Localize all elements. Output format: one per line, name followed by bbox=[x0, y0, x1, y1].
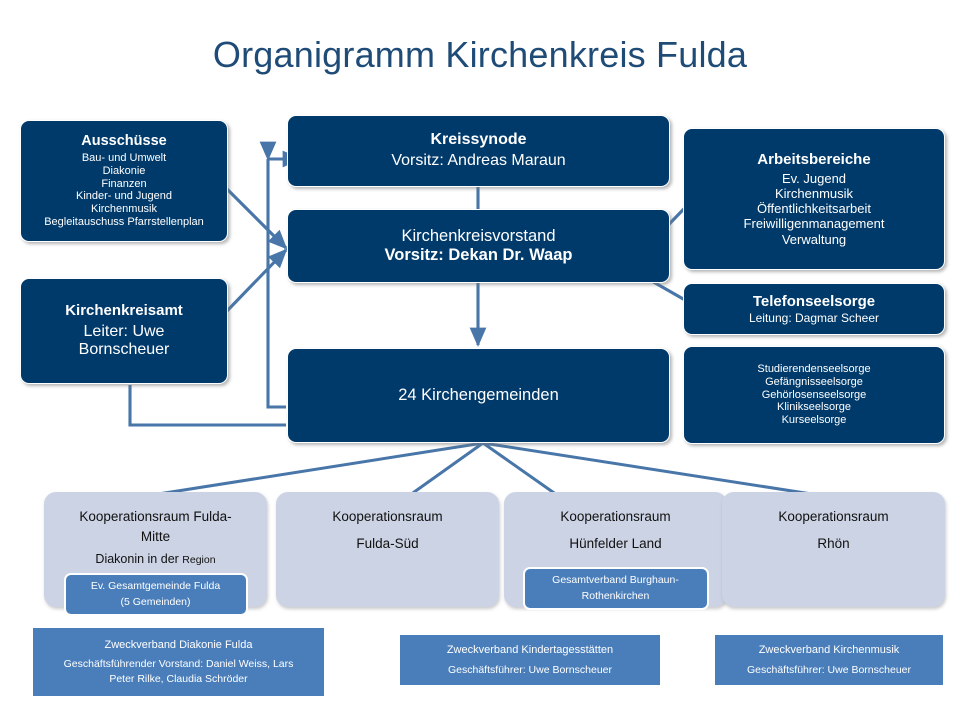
zweckverband-subtitle-line1: Geschäftsführer: Uwe Bornscheuer bbox=[747, 663, 911, 678]
koop-title-line1: Kooperationsraum bbox=[778, 507, 888, 527]
koop-chip-line1: Ev. Gesamtgemeinde Fulda bbox=[72, 578, 240, 594]
arbeitsbereiche-item: Verwaltung bbox=[782, 232, 846, 247]
page-title: Organigramm Kirchenkreis Fulda bbox=[0, 34, 960, 76]
telefonseelsorge-heading: Telefonseelsorge bbox=[753, 293, 875, 311]
box-ausschuesse[interactable]: Ausschüsse Bau- und Umwelt Diakonie Fina… bbox=[20, 120, 228, 242]
wire-fan-koop-4 bbox=[483, 443, 818, 495]
wire-fan-koop-1 bbox=[152, 443, 483, 495]
wire-elbow-gemeinden-to-synode bbox=[268, 159, 286, 407]
koop-title-line2: Fulda-Süd bbox=[356, 534, 418, 554]
zweckverband-title: Zweckverband Kindertagesstätten bbox=[447, 642, 613, 659]
koop-chip[interactable]: Gesamtverband Burghaun- Rothenkirchen bbox=[523, 567, 709, 610]
koop-chip-line1: Gesamtverband Burghaun- bbox=[531, 572, 701, 588]
wire-elbow-amt-to-gemeinden bbox=[130, 385, 286, 425]
wire-ausschuesse-to-vorstand bbox=[226, 188, 286, 248]
kirchenkreisamt-line2: Bornscheuer bbox=[79, 341, 170, 360]
kreissynode-heading: Kreissynode bbox=[430, 131, 526, 150]
koop-chip-line2: Rothenkirchen bbox=[531, 588, 701, 604]
box-kooperationsraum[interactable]: Kooperationsraum Fulda- Mitte Diakonin i… bbox=[44, 492, 267, 607]
box-kirchengemeinden[interactable]: 24 Kirchengemeinden bbox=[287, 348, 670, 443]
koop-title-line1: Kooperationsraum Fulda- bbox=[79, 507, 231, 527]
kirchenkreisamt-heading: Kirchenkreisamt bbox=[65, 302, 183, 320]
ausschuesse-item: Kirchenmusik bbox=[91, 203, 157, 216]
ausschuesse-item: Bau- und Umwelt bbox=[82, 152, 166, 165]
telefonseelsorge-subtitle: Leitung: Dagmar Scheer bbox=[749, 311, 879, 325]
box-kooperationsraum[interactable]: Kooperationsraum Fulda-Süd bbox=[276, 492, 499, 607]
zweckverband-subtitle-line1: Geschäftsführender Vorstand: Daniel Weis… bbox=[64, 657, 294, 672]
box-kreissynode[interactable]: Kreissynode Vorsitz: Andreas Maraun bbox=[287, 115, 670, 187]
kirchenkreisvorstand-line2: Vorsitz: Dekan Dr. Waap bbox=[385, 246, 573, 265]
koop-title-line2: Hünfelder Land bbox=[569, 534, 661, 554]
ausschuesse-item: Kinder- und Jugend bbox=[76, 190, 172, 203]
wire-kirchenkreisamt-to-vorstand bbox=[226, 250, 286, 312]
seelsorge-item: Kurseelsorge bbox=[782, 414, 847, 427]
ausschuesse-item: Begleitauschuss Pfarrstellenplan bbox=[44, 216, 204, 229]
koop-subtitle: Diakonin in der Region bbox=[95, 552, 215, 566]
seelsorge-item: Gehörlosenseelsorge bbox=[762, 389, 867, 402]
arbeitsbereiche-item: Kirchenmusik bbox=[775, 186, 853, 201]
wire-fan-koop-2 bbox=[410, 443, 483, 495]
kirchengemeinden-label: 24 Kirchengemeinden bbox=[398, 386, 559, 405]
box-kirchenkreisamt[interactable]: Kirchenkreisamt Leiter: Uwe Bornscheuer bbox=[20, 278, 228, 384]
koop-chip-line2: (5 Gemeinden) bbox=[72, 594, 240, 610]
box-seelsorge-liste[interactable]: Studierendenseelsorge Gefängnisseelsorge… bbox=[683, 346, 945, 444]
seelsorge-item: Studierendenseelsorge bbox=[757, 363, 870, 376]
seelsorge-item: Gefängnisseelsorge bbox=[765, 376, 863, 389]
kreissynode-subtitle: Vorsitz: Andreas Maraun bbox=[391, 152, 565, 171]
box-zweckverband[interactable]: Zweckverband Kirchenmusik Geschäftsführe… bbox=[715, 635, 943, 685]
kirchenkreisamt-line1: Leiter: Uwe bbox=[84, 323, 165, 342]
ausschuesse-item: Finanzen bbox=[101, 178, 146, 191]
box-zweckverband[interactable]: Zweckverband Kindertagesstätten Geschäft… bbox=[400, 635, 660, 685]
box-arbeitsbereiche[interactable]: Arbeitsbereiche Ev. Jugend Kirchenmusik … bbox=[683, 128, 945, 270]
koop-subtitle-main: Diakonin in der bbox=[95, 552, 182, 566]
koop-title-line2: Rhön bbox=[817, 534, 849, 554]
koop-subtitle-small: Region bbox=[182, 554, 215, 566]
koop-title-line1: Kooperationsraum bbox=[560, 507, 670, 527]
koop-chip[interactable]: Ev. Gesamtgemeinde Fulda (5 Gemeinden) bbox=[64, 573, 248, 616]
wire-fan-koop-3 bbox=[483, 443, 557, 495]
koop-title-line2: Mitte bbox=[141, 527, 170, 547]
box-kirchenkreisvorstand[interactable]: Kirchenkreisvorstand Vorsitz: Dekan Dr. … bbox=[287, 209, 670, 283]
box-zweckverband[interactable]: Zweckverband Diakonie Fulda Geschäftsfüh… bbox=[33, 628, 324, 696]
ausschuesse-heading: Ausschüsse bbox=[81, 133, 166, 150]
ausschuesse-item: Diakonie bbox=[103, 165, 146, 178]
box-kooperationsraum[interactable]: Kooperationsraum Rhön bbox=[722, 492, 945, 607]
kirchenkreisvorstand-line1: Kirchenkreisvorstand bbox=[401, 227, 555, 246]
arbeitsbereiche-heading: Arbeitsbereiche bbox=[757, 151, 870, 169]
seelsorge-item: Klinikseelsorge bbox=[777, 401, 851, 414]
box-telefonseelsorge[interactable]: Telefonseelsorge Leitung: Dagmar Scheer bbox=[683, 283, 945, 335]
arbeitsbereiche-item: Ev. Jugend bbox=[782, 171, 846, 186]
koop-title-line1: Kooperationsraum bbox=[332, 507, 442, 527]
zweckverband-subtitle-line1: Geschäftsführer: Uwe Bornscheuer bbox=[448, 663, 612, 678]
arbeitsbereiche-item: Öffentlichkeitsarbeit bbox=[757, 201, 871, 216]
zweckverband-title: Zweckverband Diakonie Fulda bbox=[105, 637, 253, 654]
arbeitsbereiche-item: Freiwilligenmanagement bbox=[744, 216, 885, 231]
zweckverband-subtitle-line2: Peter Rilke, Claudia Schröder bbox=[109, 672, 247, 687]
organigramm-canvas: Organigramm Kirchenkreis Fulda Ausschüss… bbox=[0, 0, 960, 720]
zweckverband-title: Zweckverband Kirchenmusik bbox=[759, 642, 900, 659]
box-kooperationsraum[interactable]: Kooperationsraum Hünfelder Land Gesamtve… bbox=[504, 492, 727, 607]
